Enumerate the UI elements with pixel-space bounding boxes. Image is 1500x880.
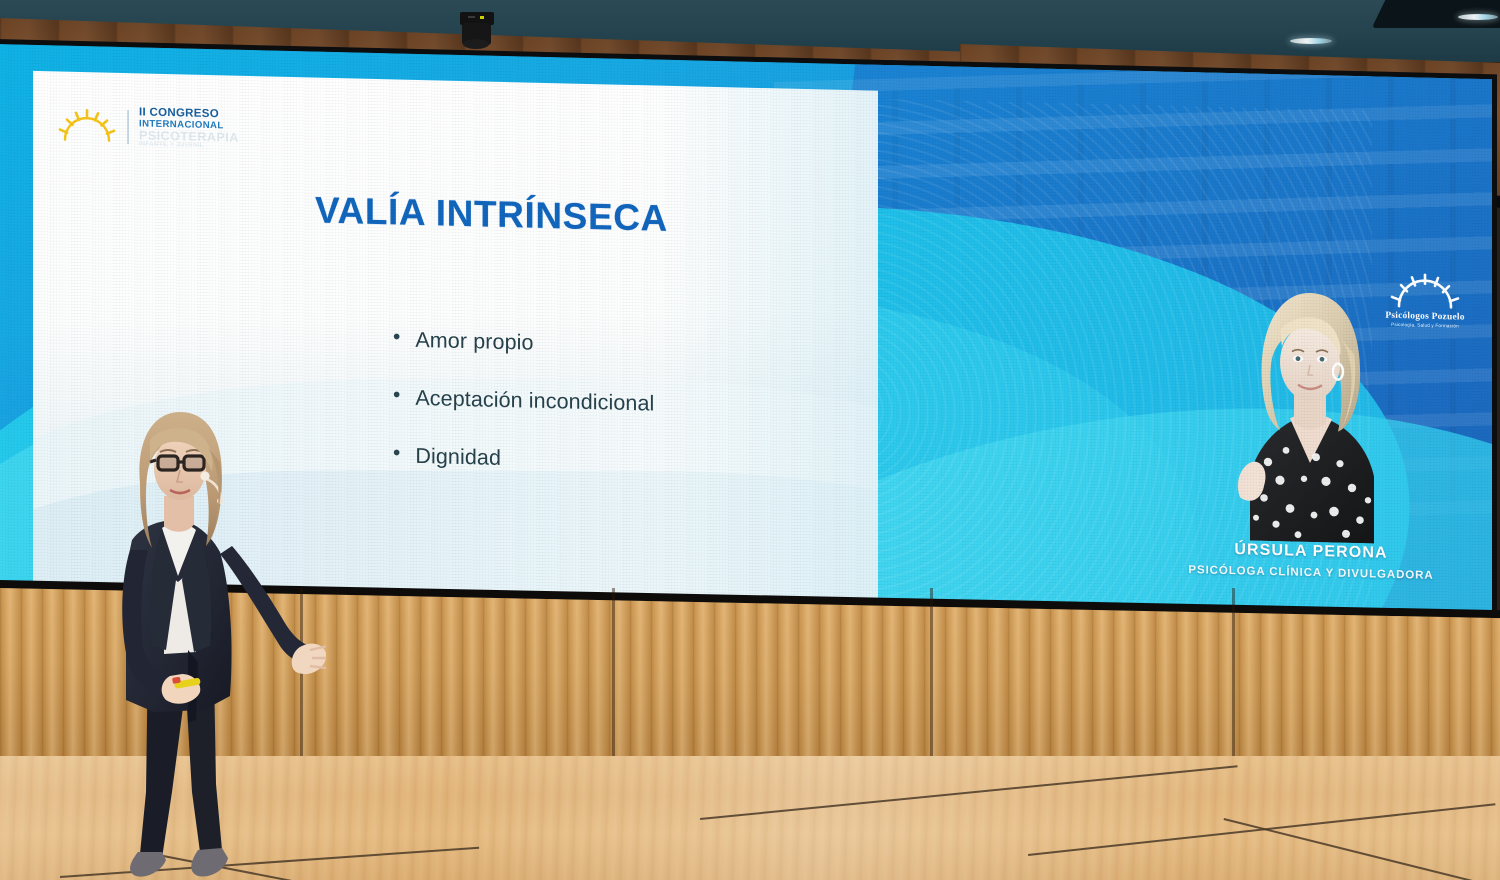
recessed-ceiling-light [1290, 38, 1332, 44]
list-item: • Aceptación incondicional [393, 385, 654, 416]
congress-logo-text: II CONGRESO INTERNACIONAL PSICOTERAPIA I… [139, 107, 239, 150]
bullet-marker-icon: • [393, 443, 400, 463]
wall-panel-seam [612, 588, 615, 768]
wall-panel-seam [1232, 588, 1235, 768]
list-item: • Dignidad [393, 443, 654, 474]
logo-divider [127, 110, 129, 144]
conference-stage-photo: II CONGRESO INTERNACIONAL PSICOTERAPIA I… [0, 0, 1500, 880]
bullet-text: Dignidad [415, 444, 501, 471]
bullet-text: Aceptación incondicional [415, 386, 654, 417]
presenter-speaker [96, 400, 326, 880]
congress-logo: II CONGRESO INTERNACIONAL PSICOTERAPIA I… [57, 105, 239, 150]
slide-bullet-list: • Amor propio • Aceptación incondicional… [393, 327, 654, 507]
speaker-portrait-image [1228, 265, 1388, 544]
recessed-ceiling-light [1458, 14, 1498, 20]
slide-right-fade [658, 86, 878, 603]
slide-title: VALÍA INTRÍNSECA [315, 190, 668, 240]
sun-icon [57, 109, 117, 144]
psicologos-pozuelo-logo: Psicólogos Pozuelo Psicología, Salud y F… [1377, 273, 1473, 329]
bullet-text: Amor propio [415, 328, 533, 356]
security-camera-icon [456, 8, 500, 52]
bullet-marker-icon: • [393, 327, 400, 347]
bullet-marker-icon: • [393, 385, 400, 405]
wall-panel-seam [930, 588, 933, 768]
list-item: • Amor propio [393, 327, 654, 358]
